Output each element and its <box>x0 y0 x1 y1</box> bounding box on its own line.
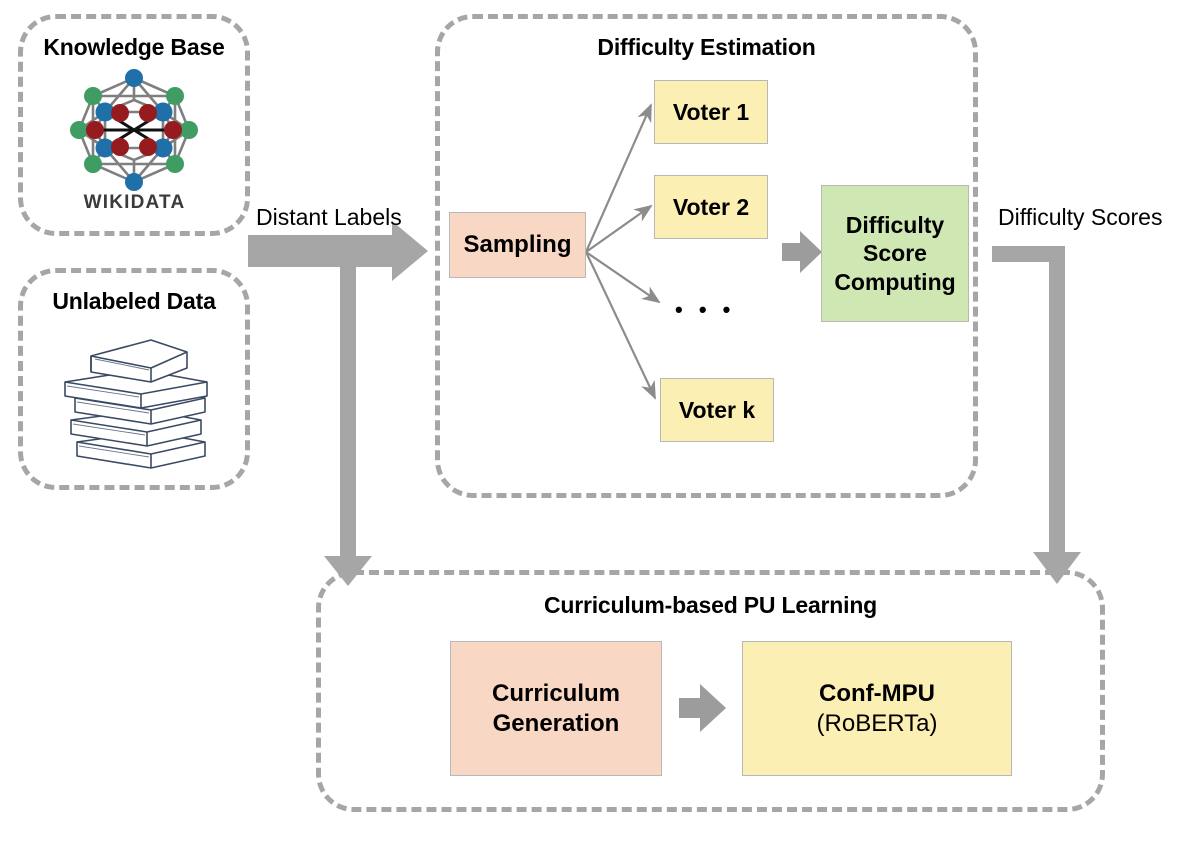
voter-1-box[interactable]: Voter 1 <box>654 80 768 144</box>
conf-mpu-backbone: (RoBERTa) <box>817 709 938 738</box>
score-box-line-2: Score <box>863 239 927 267</box>
conf-mpu-name: Conf-MPU <box>819 679 935 708</box>
voters-ellipsis: • • • <box>675 297 735 323</box>
distant-labels-label: Distant Labels <box>256 204 402 231</box>
voter-2-box[interactable]: Voter 2 <box>654 175 768 239</box>
diagram-canvas: Knowledge Base Unlabeled Data Difficulty… <box>0 0 1196 848</box>
conf-mpu-box[interactable]: Conf-MPU (RoBERTa) <box>742 641 1012 776</box>
difficulty-scores-label: Difficulty Scores <box>998 204 1162 231</box>
sampling-to-voterk-edge <box>586 252 655 398</box>
curriculum-line-1: Curriculum <box>492 679 620 708</box>
curriculum-line-2: Generation <box>493 709 620 738</box>
voter-k-box[interactable]: Voter k <box>660 378 774 442</box>
score-box-line-3: Computing <box>834 268 955 296</box>
curriculum-generation-box[interactable]: Curriculum Generation <box>450 641 662 776</box>
sampling-box[interactable]: Sampling <box>449 212 586 278</box>
score-box-line-1: Difficulty <box>846 211 944 239</box>
difficulty-score-computing-box[interactable]: Difficulty Score Computing <box>821 185 969 322</box>
